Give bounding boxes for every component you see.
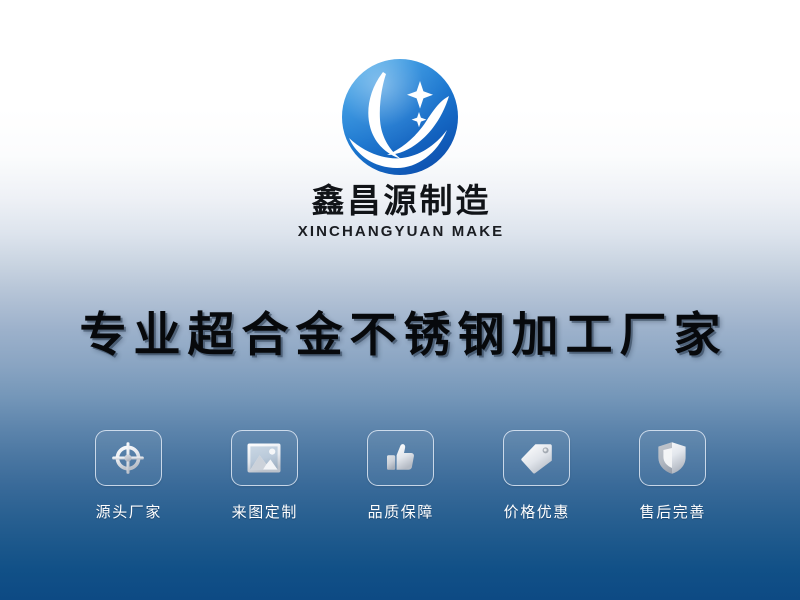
feature-icon-box bbox=[367, 430, 434, 486]
feature-icon-box bbox=[95, 430, 162, 486]
brand-logo-block: 鑫昌源制造 XINCHANGYUAN MAKE bbox=[0, 56, 800, 240]
feature-label: 来图定制 bbox=[230, 501, 298, 522]
brand-name-cn: 鑫昌源制造 bbox=[309, 182, 492, 220]
feature-item-quality-guarantee[interactable]: 品质保障 bbox=[344, 430, 456, 522]
page-title: 专业超合金不锈钢加工厂家 bbox=[0, 296, 800, 365]
feature-label: 源头厂家 bbox=[94, 501, 162, 522]
feature-label: 价格优惠 bbox=[502, 501, 570, 522]
crosshair-target-icon bbox=[111, 441, 145, 475]
image-picture-icon bbox=[247, 443, 281, 473]
feature-label: 售后完善 bbox=[638, 501, 706, 522]
feature-list: 源头厂家 bbox=[72, 430, 728, 522]
feature-item-source-factory[interactable]: 源头厂家 bbox=[72, 430, 184, 522]
brand-name-en: XINCHANGYUAN MAKE bbox=[296, 223, 505, 240]
feature-item-after-sales[interactable]: 售后完善 bbox=[616, 430, 728, 522]
banner-canvas: 鑫昌源制造 XINCHANGYUAN MAKE 专业超合金不锈钢加工厂家 bbox=[0, 0, 800, 600]
feature-icon-box bbox=[503, 430, 570, 486]
feature-item-custom-drawing[interactable]: 来图定制 bbox=[208, 430, 320, 522]
feature-item-price-discount[interactable]: 价格优惠 bbox=[480, 430, 592, 522]
feature-icon-box bbox=[231, 430, 298, 486]
thumbs-up-icon bbox=[384, 442, 416, 474]
price-tag-icon bbox=[520, 442, 553, 475]
swallow-circle-emblem-icon bbox=[339, 56, 461, 178]
feature-label: 品质保障 bbox=[366, 501, 434, 522]
shield-icon bbox=[657, 441, 687, 475]
feature-icon-box bbox=[639, 430, 706, 486]
